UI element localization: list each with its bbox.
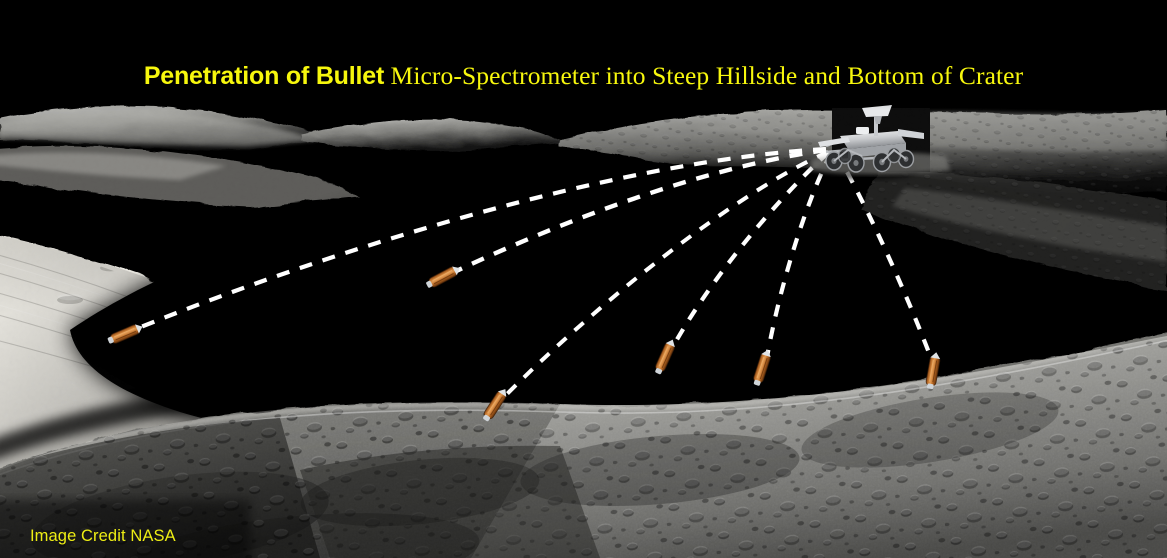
screenshot-root: Penetration of Bullet Micro-Spectrometer… bbox=[0, 0, 1167, 558]
lunar-crater-illustration bbox=[0, 0, 1167, 558]
